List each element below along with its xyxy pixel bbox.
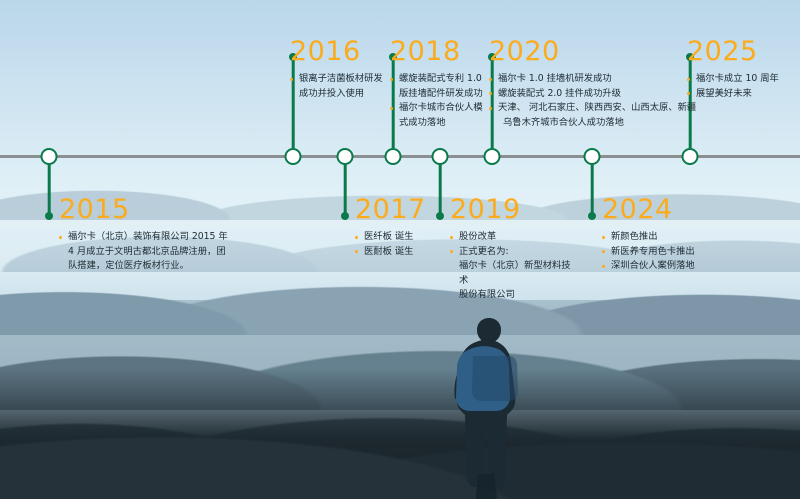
entry-item-cont: 乌鲁木齐城市合伙人成功落地: [489, 116, 699, 131]
entry-item: 福尔卡城市合伙人模: [390, 101, 490, 116]
entry-item-cont: 成功并投入使用: [290, 87, 390, 102]
entry-item-cont: 福尔卡（北京）新型材料技术: [450, 259, 571, 288]
year-label-2025: 2025: [687, 38, 797, 65]
timeline-entry-2015: 2015 福尔卡（北京）装饰有限公司 2015 年 4 月成立于文明古都北京品牌…: [45, 196, 235, 274]
timeline-node-2020[interactable]: [484, 148, 501, 165]
entry-item-cont: 式成功落地: [390, 116, 490, 131]
entry-item: 医纤板 诞生: [355, 230, 436, 245]
entry-items-2015: 福尔卡（北京）装饰有限公司 2015 年 4 月成立于文明古都北京品牌注册，团 …: [59, 230, 235, 274]
entry-item: 螺旋装配式 2.0 挂件成功升级: [489, 87, 699, 102]
year-label-2015: 2015: [59, 196, 235, 223]
timeline-entry-2018: 2018 螺旋装配式专利 1.0 版挂墙配件研发成功 福尔卡城市合伙人模 式成功…: [390, 38, 490, 130]
timeline-node-2018[interactable]: [385, 148, 402, 165]
entry-items-2017: 医纤板 诞生 医耐板 诞生: [355, 230, 436, 259]
entry-item: 新颜色推出: [602, 230, 708, 245]
entry-items-2018: 螺旋装配式专利 1.0 版挂墙配件研发成功 福尔卡城市合伙人模 式成功落地: [390, 72, 490, 130]
entry-item: 福尔卡（北京）装饰有限公司 2015 年: [59, 230, 235, 245]
timeline-node-2015[interactable]: [41, 148, 58, 165]
foreground-ridge: [0, 369, 800, 499]
entry-item: 福尔卡 1.0 挂墙机研发成功: [489, 72, 699, 87]
timeline-entry-2019: 2019 股份改革 正式更名为: 福尔卡（北京）新型材料技术 股份有限公司: [436, 196, 571, 303]
entry-items-2019: 股份改革 正式更名为: 福尔卡（北京）新型材料技术 股份有限公司: [450, 230, 571, 303]
year-label-2018: 2018: [390, 38, 490, 65]
entry-item-cont: 版挂墙配件研发成功: [390, 87, 490, 102]
entry-item-cont: 股份有限公司: [450, 288, 571, 303]
entry-item-cont: 4 月成立于文明古都北京品牌注册，团: [59, 245, 235, 260]
timeline-entry-2024: 2024 新颜色推出 新医养专用色卡推出 深圳合伙人案例落地: [588, 196, 708, 274]
timeline-node-2016[interactable]: [285, 148, 302, 165]
timeline-entry-2025: 2025 福尔卡成立 10 周年 展望美好未来: [687, 38, 797, 101]
entry-items-2016: 银离子洁菌板材研发 成功并投入使用: [290, 72, 390, 101]
timeline-entry-2017: 2017 医纤板 诞生 医耐板 诞生: [341, 196, 436, 259]
entry-item: 福尔卡成立 10 周年: [687, 72, 797, 87]
timeline-node-2017[interactable]: [337, 148, 354, 165]
timeline-node-2019[interactable]: [432, 148, 449, 165]
entry-items-2025: 福尔卡成立 10 周年 展望美好未来: [687, 72, 797, 101]
year-label-2020: 2020: [489, 38, 699, 65]
entry-item: 螺旋装配式专利 1.0: [390, 72, 490, 87]
timeline-entry-2016: 2016 银离子洁菌板材研发 成功并投入使用: [290, 38, 390, 101]
timeline-node-2025[interactable]: [682, 148, 699, 165]
year-label-2016: 2016: [290, 38, 390, 65]
entry-items-2020: 福尔卡 1.0 挂墙机研发成功 螺旋装配式 2.0 挂件成功升级 天津、 河北石…: [489, 72, 699, 130]
entry-item: 天津、 河北石家庄、陕西西安、山西太原、新疆: [489, 101, 699, 116]
entry-item-cont: 队搭建，定位医疗板材行业。: [59, 259, 235, 274]
timeline-node-2024[interactable]: [584, 148, 601, 165]
entry-item: 新医养专用色卡推出: [602, 245, 708, 260]
year-label-2024: 2024: [602, 196, 708, 223]
hiker-silhouette: [432, 306, 550, 499]
timeline-entry-2020: 2020 福尔卡 1.0 挂墙机研发成功 螺旋装配式 2.0 挂件成功升级 天津…: [489, 38, 699, 130]
entry-item: 医耐板 诞生: [355, 245, 436, 260]
year-label-2017: 2017: [355, 196, 436, 223]
entry-item: 深圳合伙人案例落地: [602, 259, 708, 274]
entry-item: 银离子洁菌板材研发: [290, 72, 390, 87]
timeline-infographic: 2015 福尔卡（北京）装饰有限公司 2015 年 4 月成立于文明古都北京品牌…: [0, 0, 800, 499]
entry-item: 展望美好未来: [687, 87, 797, 102]
entry-item: 股份改革: [450, 230, 571, 245]
entry-items-2024: 新颜色推出 新医养专用色卡推出 深圳合伙人案例落地: [602, 230, 708, 274]
entry-item: 正式更名为:: [450, 245, 571, 260]
year-label-2019: 2019: [450, 196, 571, 223]
